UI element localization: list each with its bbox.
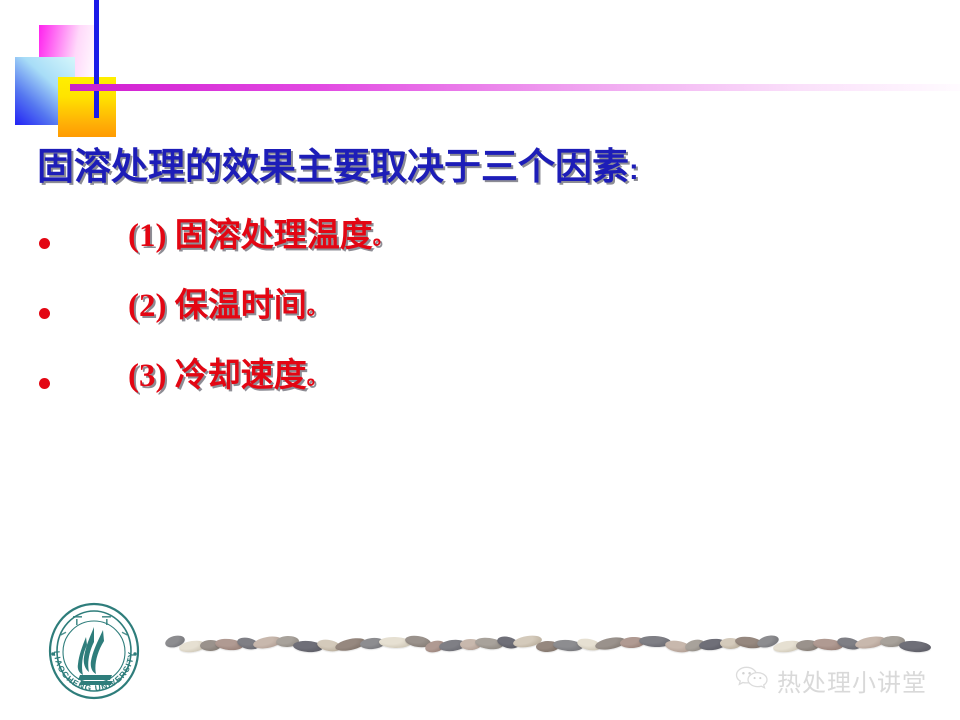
list-item-period: 。 (373, 225, 394, 249)
list-item-text: (1) 固溶处理温度。 (128, 216, 394, 257)
header-decoration (0, 0, 960, 140)
decor-vertical-rule (94, 0, 99, 118)
list-item-number: (2) (128, 288, 166, 324)
pebble (899, 640, 932, 653)
list-item-label: 保温时间 (175, 288, 307, 324)
list-item-text: (3) 冷却速度。 (128, 356, 328, 397)
slide-title-colon: : (629, 154, 639, 186)
list-item: (1) 固溶处理温度。 (0, 214, 960, 284)
list-item-text: (2) 保温时间。 (128, 286, 328, 327)
list-item: (3) 冷却速度。 (0, 354, 960, 424)
list-item: (2) 保温时间。 (0, 284, 960, 354)
list-item-label: 固溶处理温度 (175, 218, 373, 254)
decor-horizontal-rule (70, 84, 960, 91)
slide-title-text: 固溶处理的效果主要取决于三个因素 (37, 147, 629, 188)
wechat-icon (735, 665, 769, 696)
list-item-number: (3) (128, 358, 166, 394)
slide-title: 固溶处理的效果主要取决于三个因素: (37, 149, 639, 188)
bullet-list: (1) 固溶处理温度。 (2) 保温时间。 (3) 冷却速度。 (0, 214, 960, 424)
wechat-watermark: 热处理小讲堂 (735, 663, 927, 698)
list-item-label: 冷却速度 (175, 358, 307, 394)
bullet-dot-icon (39, 308, 50, 319)
list-item-number: (1) (128, 218, 166, 254)
pebble-divider (165, 630, 905, 656)
list-item-period: 。 (307, 295, 328, 319)
bullet-dot-icon (39, 238, 50, 249)
university-seal-logo: LIAOCHENG UNIVERSITY (40, 597, 148, 705)
list-item-period: 。 (307, 365, 328, 389)
bullet-dot-icon (39, 378, 50, 389)
wechat-watermark-text: 热处理小讲堂 (777, 663, 927, 698)
